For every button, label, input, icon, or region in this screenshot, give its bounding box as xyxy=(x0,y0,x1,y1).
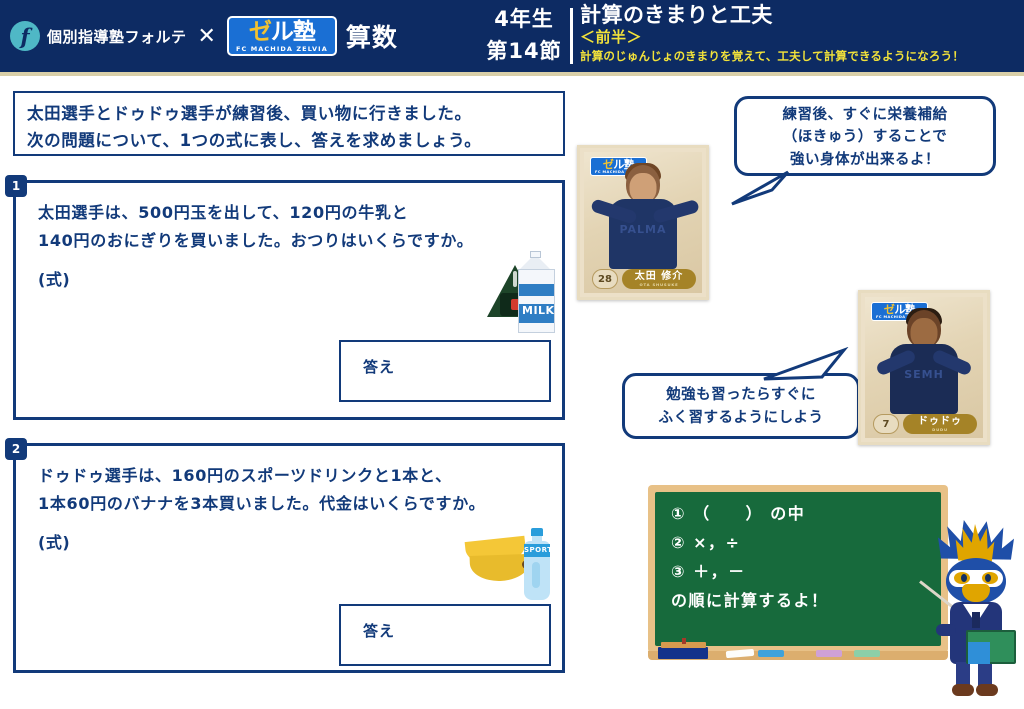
forte-f-icon: f xyxy=(10,21,40,51)
player-2-photo: SEMH xyxy=(874,306,974,414)
problem-1-answer-label: 答え xyxy=(363,356,395,377)
problem-1-answer-box[interactable]: 答え xyxy=(339,340,551,402)
lesson-title: 計算のきまりと工夫 xyxy=(580,2,964,28)
speech-bubble-nutrition: 練習後、すぐに栄養補給 （ほきゅう）することで 強い身体が出来るよ！ xyxy=(734,96,996,176)
problem-1-shiki-label: (式) xyxy=(38,266,562,290)
grade-label: 4年生 xyxy=(478,4,570,36)
problem-1-line-2: 140円のおにぎりを買いました。おつりはいくらですか。 xyxy=(16,227,562,255)
player-2-kit-text: SEMH xyxy=(904,368,944,381)
card-2-name-ja: ドゥドゥ xyxy=(918,417,962,427)
subject-label: 算数 xyxy=(346,18,398,54)
card-1-number: 28 xyxy=(592,269,618,289)
card-1-name-ja: 太田 修介 xyxy=(635,272,683,282)
player-card-ota: ゼル塾 FC MACHIDA ZELVIA PALMA 28 太田 修介 OTA… xyxy=(577,145,709,300)
problem-1-badge: 1 xyxy=(5,175,27,197)
cross-icon: ✕ xyxy=(198,24,216,49)
section-label: 第14節 xyxy=(478,36,570,68)
player-1-kit-text: PALMA xyxy=(619,223,666,236)
bubble-1-line-1: 練習後、すぐに栄養補給 xyxy=(737,104,993,126)
intro-box: 太田選手とドゥドゥ選手が練習後、買い物に行きました。 次の問題について、1つの式… xyxy=(13,91,565,156)
board-rule-1: ① （ ） の中 xyxy=(671,506,941,522)
problem-2-answer-label: 答え xyxy=(363,620,395,641)
zelvy-mascot-icon xyxy=(930,520,1022,700)
grade-section-block: 4年生 第14節 xyxy=(478,4,570,67)
intro-line-2: 次の問題について、1つの式に表し、答えを求めましょう。 xyxy=(27,128,563,155)
card-2-number: 7 xyxy=(873,414,899,434)
page-header: f 個別指導塾フォルテ ✕ ゼル塾 FC MACHIDA ZELVIA 算数 4… xyxy=(0,0,1024,72)
player-card-dudu: ゼル塾 FC MACHIDA ZELVIA SEMH 7 ドゥドゥ DUDU xyxy=(858,290,990,445)
sports-drink-icon: SPORTS xyxy=(520,528,554,600)
problem-2-line-2: 1本60円のバナナを3本買いました。代金はいくらですか。 xyxy=(16,490,562,518)
chalk-pink-icon xyxy=(816,650,842,657)
problem-2-answer-box[interactable]: 答え xyxy=(339,604,551,666)
speech-bubble-2-tail xyxy=(760,347,852,387)
speech-bubble-1-tail xyxy=(726,168,796,210)
zeru-juku-logo: ゼル塾 FC MACHIDA ZELVIA xyxy=(227,16,337,56)
problem-1-line-1: 太田選手は、500円玉を出して、120円の牛乳と xyxy=(16,183,562,227)
header-accent-bar xyxy=(0,72,1024,76)
milk-label-text: MILK xyxy=(522,304,552,317)
card-2-nameplate: 7 ドゥドゥ DUDU xyxy=(873,414,977,434)
card-1-nameplate: 28 太田 修介 OTA SHUSUKE xyxy=(592,269,696,289)
sports-drink-label-text: SPORTS xyxy=(524,544,550,557)
bubble-1-line-2: （ほきゅう）することで xyxy=(737,126,993,148)
intro-line-1: 太田選手とドゥドゥ選手が練習後、買い物に行きました。 xyxy=(27,101,563,128)
zeru-juku-logo-sub: FC MACHIDA ZELVIA xyxy=(236,45,328,53)
problem-2-line-1: ドゥドゥ選手は、160円のスポーツドリンクと1本と、 xyxy=(16,446,562,490)
worksheet-page: f 個別指導塾フォルテ ✕ ゼル塾 FC MACHIDA ZELVIA 算数 4… xyxy=(0,0,1024,709)
zeru-juku-logo-main: ゼル塾 xyxy=(236,20,328,44)
chalk-blue-icon xyxy=(758,650,784,657)
milk-carton-icon: MILK xyxy=(512,254,559,333)
board-rule-3: ③ ＋，－ xyxy=(671,564,941,580)
board-rule-2: ② ×，÷ xyxy=(671,535,941,551)
bubble-2-line-1: 勉強も習ったらすぐに xyxy=(625,384,857,407)
board-rule-4: の順に計算するよ！ xyxy=(671,593,941,609)
forte-name-label: 個別指導塾フォルテ xyxy=(47,26,187,47)
card-2-name-en: DUDU xyxy=(932,427,948,432)
blackboard: ① （ ） の中 ② ×，÷ ③ ＋，－ の順に計算するよ！ xyxy=(648,485,948,653)
bubble-2-line-2: ふく習するようにしよう xyxy=(625,407,857,430)
lesson-title-block: 計算のきまりと工夫 ＜前半＞ 計算のじゅんじょのきまりを覚えて、工夫して計算でき… xyxy=(580,2,964,64)
forte-logo: f 個別指導塾フォルテ xyxy=(10,21,187,51)
header-divider xyxy=(570,8,573,64)
player-1-photo: PALMA xyxy=(593,161,693,269)
lesson-subtitle: ＜前半＞ xyxy=(580,28,964,48)
problem-2-badge: 2 xyxy=(5,438,27,460)
card-1-name-en: OTA SHUSUKE xyxy=(640,282,679,287)
blackboard-eraser-icon xyxy=(658,647,708,659)
chalk-green-icon xyxy=(854,650,880,657)
lesson-goal-note: 計算のじゅんじょのきまりを覚えて、工夫して計算できるようになろう！ xyxy=(580,48,964,64)
